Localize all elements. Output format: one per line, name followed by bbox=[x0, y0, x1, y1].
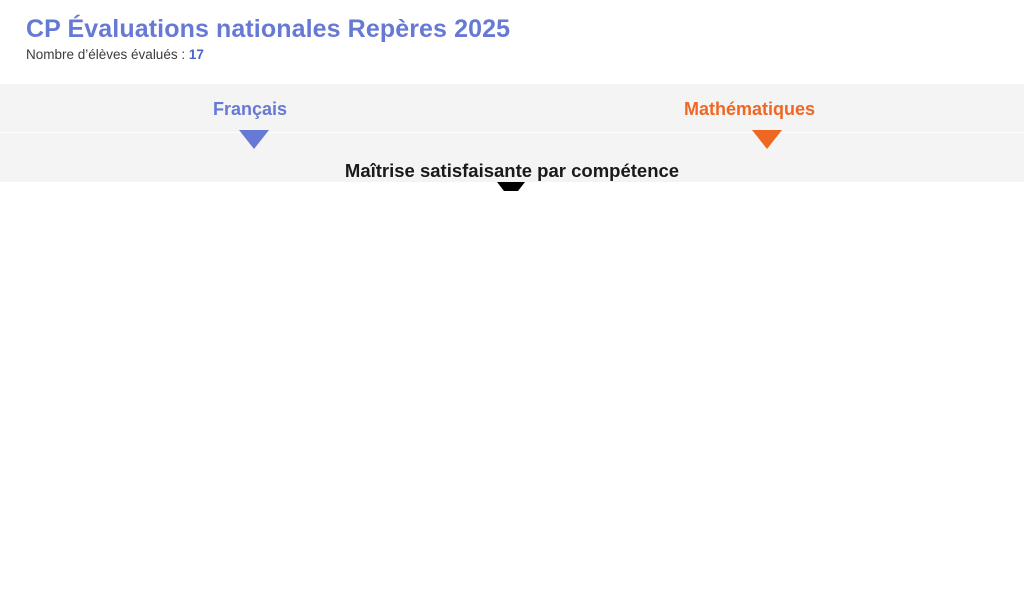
band-divider bbox=[0, 132, 1024, 133]
category-labels-mathematiques bbox=[540, 205, 705, 515]
chart-panel-mathematiques bbox=[510, 191, 1006, 606]
report-page: CP Évaluations nationales Repères 2025 N… bbox=[0, 0, 1024, 606]
subject-tab-mathematiques[interactable]: Mathématiques bbox=[684, 99, 815, 120]
category-labels-francais bbox=[48, 205, 213, 515]
charts-card bbox=[26, 191, 1006, 606]
subject-band bbox=[0, 84, 1024, 132]
students-evaluated-label: Nombre d’élèves évalués : bbox=[26, 47, 189, 62]
students-evaluated-count: 17 bbox=[189, 47, 204, 62]
chevron-down-icon-mathematiques bbox=[752, 130, 782, 149]
subject-tab-francais[interactable]: Français bbox=[213, 99, 287, 120]
page-title: CP Évaluations nationales Repères 2025 bbox=[26, 15, 510, 44]
chart-panel-francais bbox=[26, 191, 516, 606]
chevron-down-icon-francais bbox=[239, 130, 269, 149]
students-evaluated: Nombre d’élèves évalués : 17 bbox=[26, 47, 204, 62]
plot-area-francais bbox=[224, 205, 474, 515]
plot-area-mathematiques bbox=[707, 205, 957, 515]
section-title: Maîtrise satisfaisante par compétence bbox=[0, 160, 1024, 182]
